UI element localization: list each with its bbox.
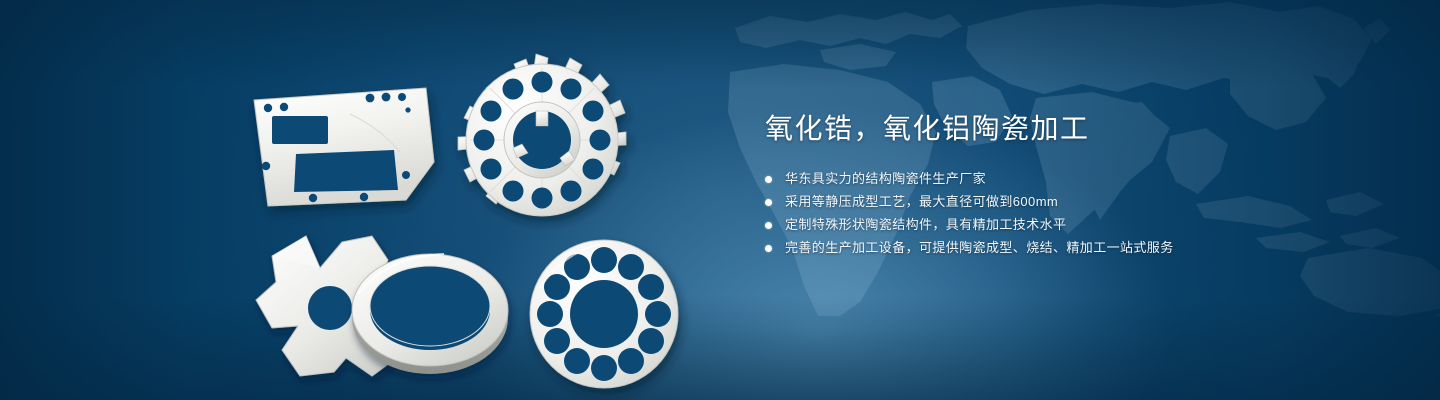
bullet-dot-icon <box>765 222 772 229</box>
banner-copy: 氧化锆，氧化铝陶瓷加工 华东具实力的结构陶瓷件生产厂家 采用等静压成型工艺，最大… <box>765 112 1385 260</box>
ceramic-parts-photo <box>230 40 730 380</box>
list-item: 定制特殊形状陶瓷结构件，具有精加工技术水平 <box>765 214 1385 236</box>
hero-banner: 氧化锆，氧化铝陶瓷加工 华东具实力的结构陶瓷件生产厂家 采用等静压成型工艺，最大… <box>0 0 1440 400</box>
list-item: 华东具实力的结构陶瓷件生产厂家 <box>765 168 1385 190</box>
banner-headline: 氧化锆，氧化铝陶瓷加工 <box>765 112 1385 146</box>
ceramic-perforated-disc <box>530 240 678 388</box>
bullet-dot-icon <box>765 199 772 206</box>
ceramic-ring <box>352 254 508 374</box>
banner-bullet-list: 华东具实力的结构陶瓷件生产厂家 采用等静压成型工艺，最大直径可做到600mm 定… <box>765 168 1385 259</box>
bullet-text: 华东具实力的结构陶瓷件生产厂家 <box>785 168 986 190</box>
bullet-text: 定制特殊形状陶瓷结构件，具有精加工技术水平 <box>785 214 1066 236</box>
list-item: 采用等静压成型工艺，最大直径可做到600mm <box>765 191 1385 213</box>
bullet-dot-icon <box>765 176 772 183</box>
bullet-text: 采用等静压成型工艺，最大直径可做到600mm <box>785 191 1058 213</box>
bullet-text: 完善的生产加工设备，可提供陶瓷成型、烧结、精加工一站式服务 <box>785 237 1174 259</box>
bullet-dot-icon <box>765 245 772 252</box>
list-item: 完善的生产加工设备，可提供陶瓷成型、烧结、精加工一站式服务 <box>765 237 1385 259</box>
ceramic-machined-plate <box>254 88 434 206</box>
ceramic-impeller-disc <box>458 54 626 216</box>
